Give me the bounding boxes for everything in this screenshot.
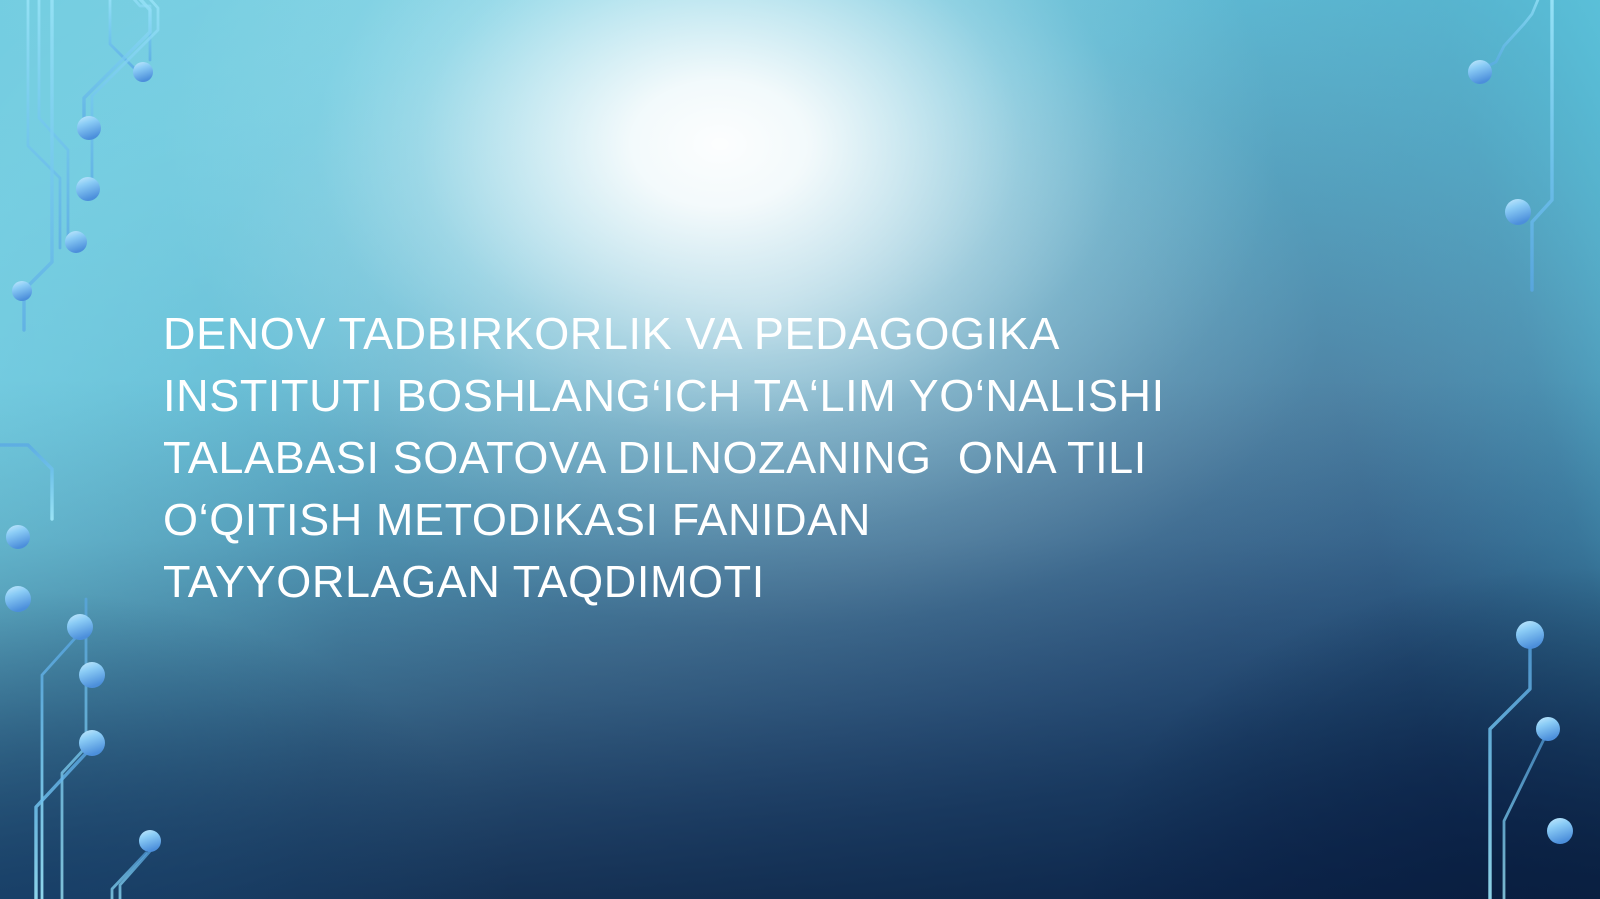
title-line-3: TALABASI SOATOVA DILNOZANING ONA TILI [163,427,1453,489]
title-line-2: INSTITUTI BOSHLANG‘ICH TA‘LIM YO‘NALISHI [163,365,1453,427]
title-line-4: O‘QITISH METODIKASI FANIDAN [163,489,1453,551]
title-line-1: DENOV TADBIRKORLIK VA PEDAGOGIKA [163,303,1453,365]
title-line-5: TAYYORLAGAN TAQDIMOTI [163,551,1453,613]
presentation-slide: DENOV TADBIRKORLIK VA PEDAGOGIKA INSTITU… [0,0,1600,899]
slide-title[interactable]: DENOV TADBIRKORLIK VA PEDAGOGIKA INSTITU… [163,303,1453,613]
